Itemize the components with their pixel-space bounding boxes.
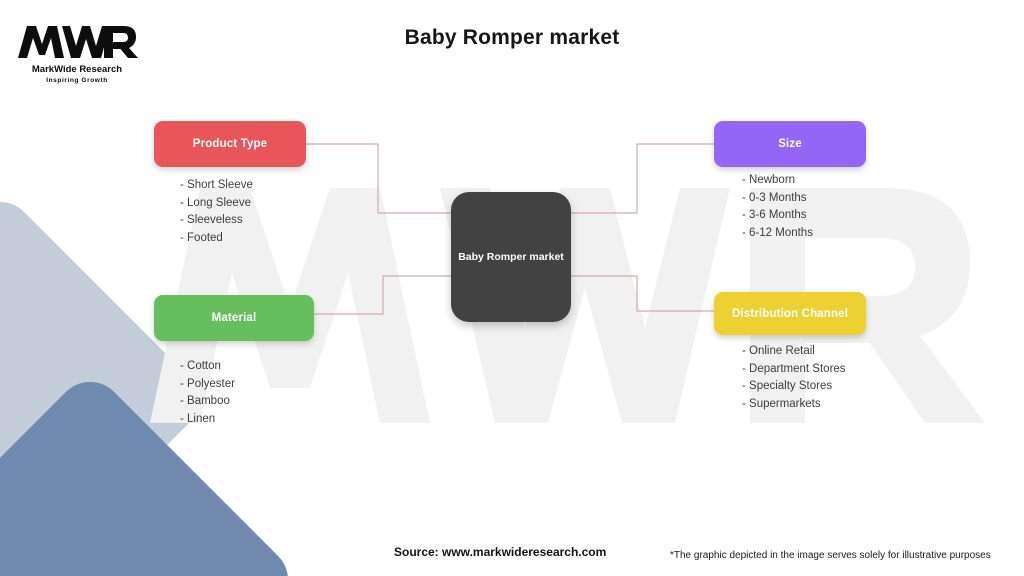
list-item: - 3-6 Months: [742, 207, 813, 225]
list-item: - Specialty Stores: [742, 378, 846, 396]
list-item: - Newborn: [742, 172, 813, 190]
branch-box-distribution-channel[interactable]: Distribution Channel: [714, 292, 866, 335]
branch-label-material: Material: [212, 312, 257, 324]
list-item: - Bamboo: [180, 393, 235, 411]
item-list-size: - Newborn - 0-3 Months - 3-6 Months - 6-…: [742, 172, 813, 242]
infographic-canvas: MarkWide Research Inspiring Growth Baby …: [0, 0, 1024, 576]
list-item: - Polyester: [180, 376, 235, 394]
list-item: - Supermarkets: [742, 396, 846, 414]
branch-label-distribution-channel: Distribution Channel: [732, 308, 848, 320]
connector-distribution-channel: [570, 276, 714, 311]
list-item: - Long Sleeve: [180, 195, 253, 213]
branch-box-size[interactable]: Size: [714, 121, 866, 167]
list-item: - 0-3 Months: [742, 190, 813, 208]
list-item: - Sleeveless: [180, 212, 253, 230]
decorative-shape-dark: [0, 368, 302, 576]
branch-box-material[interactable]: Material: [154, 295, 314, 341]
branch-label-product-type: Product Type: [193, 138, 267, 150]
center-node: Baby Romper market: [451, 192, 571, 322]
connector-material: [314, 276, 452, 314]
list-item: - Linen: [180, 411, 235, 429]
list-item: - 6-12 Months: [742, 225, 813, 243]
branch-box-product-type[interactable]: Product Type: [154, 121, 306, 167]
item-list-distribution-channel: - Online Retail - Department Stores - Sp…: [742, 343, 846, 413]
connector-size: [570, 144, 714, 213]
brand-logo: MarkWide Research Inspiring Growth: [16, 22, 138, 86]
logo-name: MarkWide Research: [32, 64, 122, 75]
item-list-material: - Cotton - Polyester - Bamboo - Linen: [180, 358, 235, 428]
disclaimer-text: *The graphic depicted in the image serve…: [670, 550, 991, 561]
list-item: - Short Sleeve: [180, 177, 253, 195]
page-title: Baby Romper market: [250, 26, 774, 50]
branch-label-size: Size: [778, 138, 802, 150]
connector-product-type: [306, 144, 452, 213]
logo-tagline: Inspiring Growth: [46, 77, 108, 84]
list-item: - Cotton: [180, 358, 235, 376]
list-item: - Department Stores: [742, 361, 846, 379]
list-item: - Online Retail: [742, 343, 846, 361]
list-item: - Footed: [180, 230, 253, 248]
item-list-product-type: - Short Sleeve - Long Sleeve - Sleeveles…: [180, 177, 253, 247]
source-text: Source: www.markwideresearch.com: [394, 545, 606, 559]
